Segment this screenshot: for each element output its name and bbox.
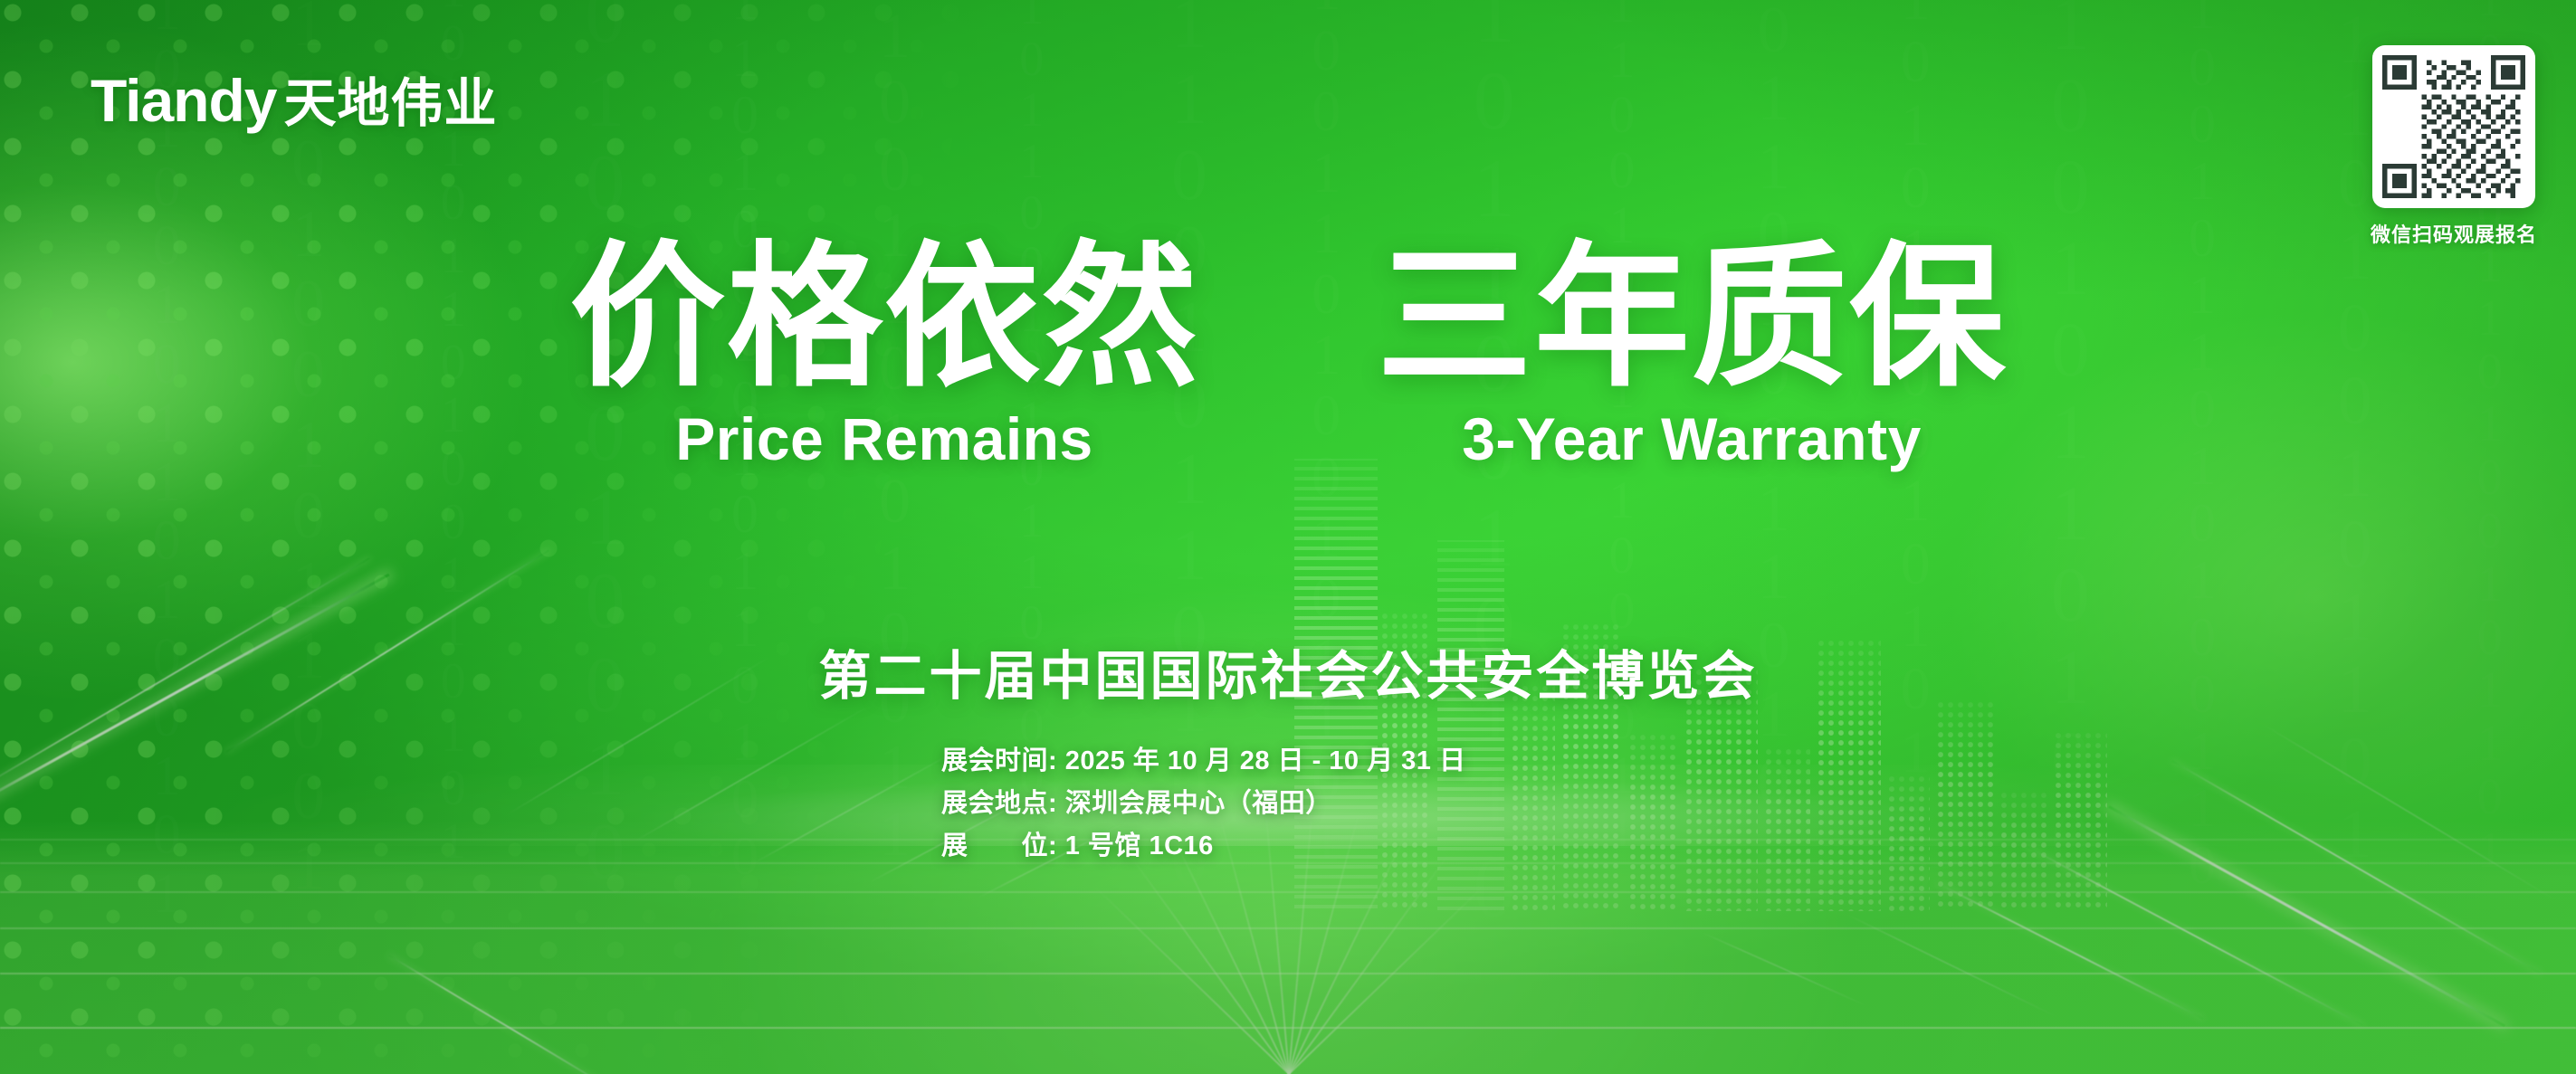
expo-detail-row: 展会时间: 2025 年 10 月 28 日 - 10 月 31 日 [941, 740, 1466, 783]
expo-details: 展会时间: 2025 年 10 月 28 日 - 10 月 31 日展会地点: … [941, 740, 1466, 868]
vignette-overlay [0, 0, 2576, 1074]
expo-detail-row: 展会地点: 深圳会展中心（福田） [941, 783, 1466, 825]
logo-text-cn: 天地伟业 [284, 78, 498, 130]
tiandy-logo: Tiandy 天地伟业 [91, 71, 498, 130]
qr-registration-block[interactable]: 微信扫码观展报名 [2368, 45, 2540, 248]
expo-detail-value: 2025 年 10 月 28 日 - 10 月 31 日 [1065, 746, 1466, 775]
expo-title: 第二十届中国国际社会公共安全博览会 [0, 633, 2576, 709]
expo-detail-value: 深圳会展中心（福田） [1065, 789, 1332, 818]
promo-banner: 1 0 1 0 0 1 0 1 1 0 1 0 0 1 0 10 1 1 0 1… [0, 0, 2576, 1074]
expo-detail-value: 1 号馆 1C16 [1065, 832, 1214, 860]
expo-detail-label: 展会地点: [941, 789, 1065, 818]
expo-detail-label: 展会时间: [941, 746, 1065, 775]
qr-caption: 微信扫码观展报名 [2371, 219, 2537, 248]
expo-detail-label: 展 位: [941, 832, 1065, 860]
expo-detail-row: 展 位: 1 号馆 1C16 [941, 825, 1466, 868]
qr-code-icon[interactable] [2372, 45, 2535, 208]
logo-text-en: Tiandy [91, 71, 277, 130]
